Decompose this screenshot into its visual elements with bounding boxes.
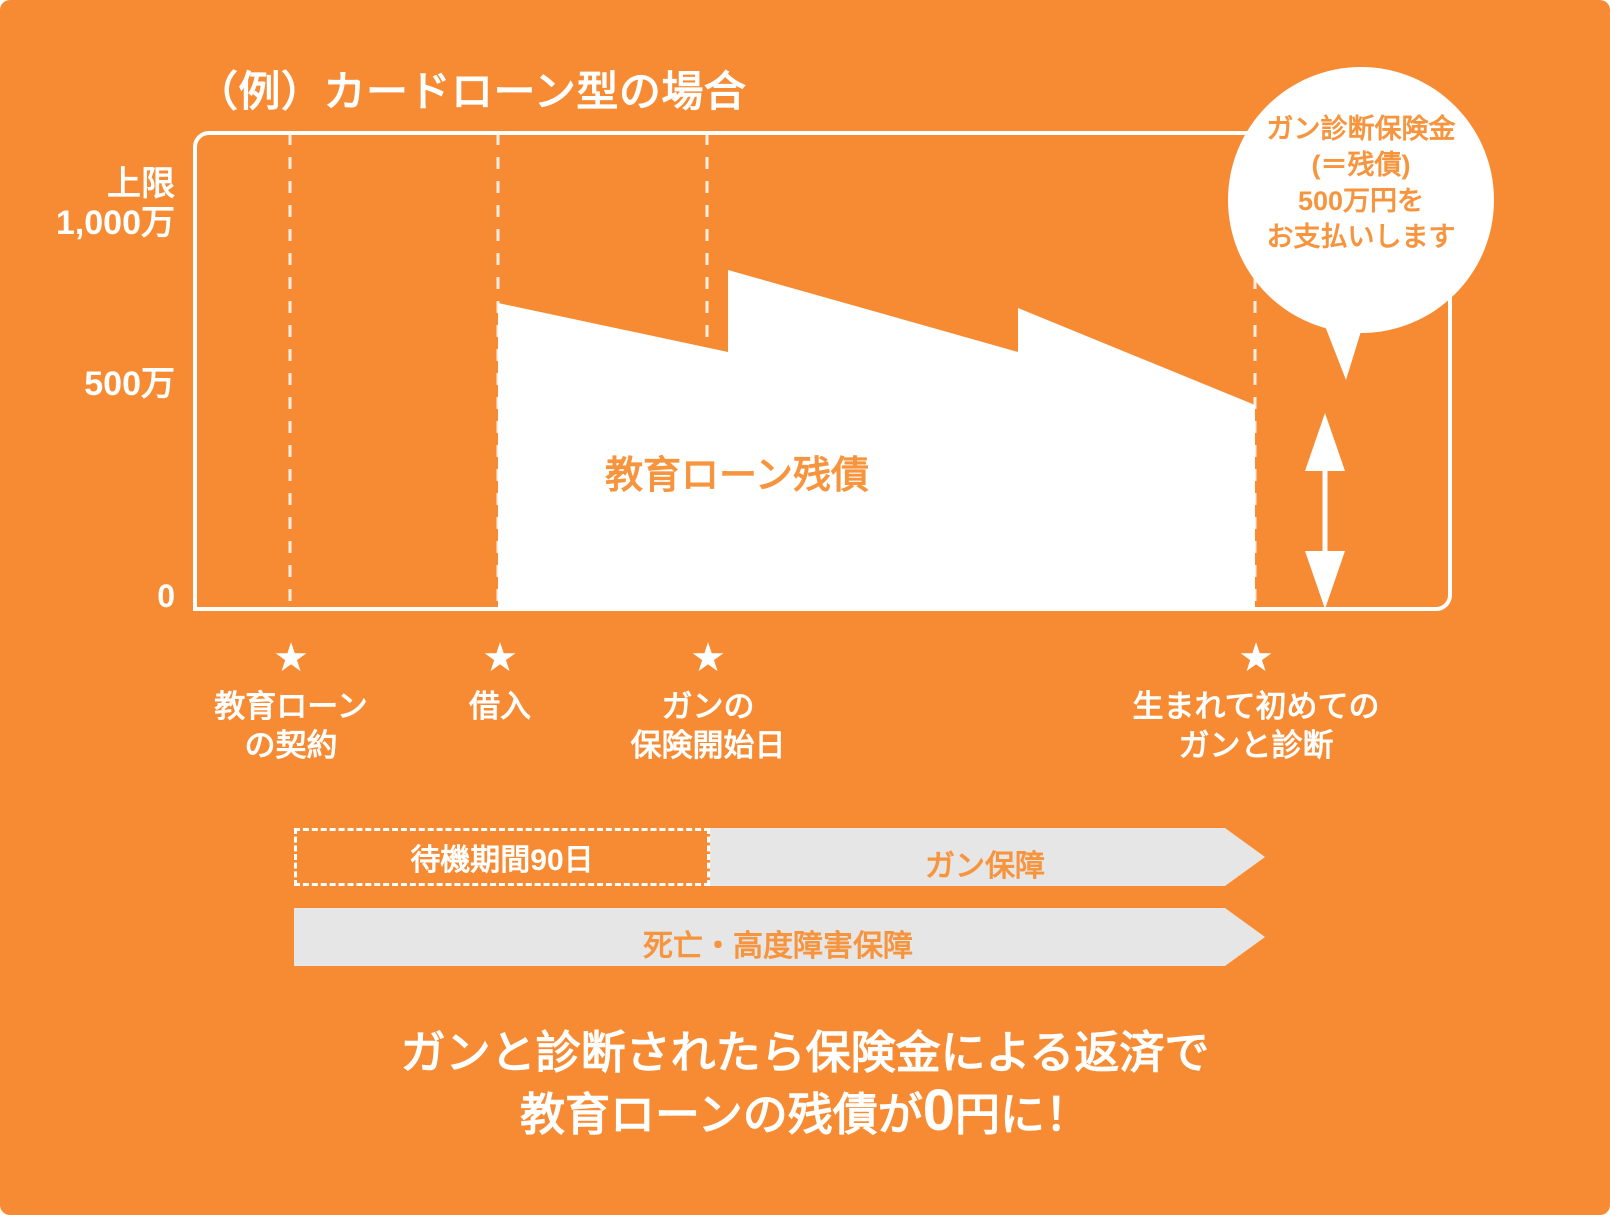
series-label-loan-balance: 教育ローン残債 (605, 444, 869, 499)
event-label-line2: の契約 (214, 727, 367, 766)
event-label-line1: ガンの (631, 688, 786, 727)
cancer-coverage-label: ガン保障 (925, 841, 1045, 885)
infographic-root: （例）カードローン型の場合 上限 1,000万 500万 0 教育ローン残債 ガ… (0, 0, 1610, 1215)
footer-zero-amount: 0 (923, 1078, 955, 1143)
star-icon: ★ (631, 638, 786, 678)
y-axis-label-max-line1: 上限 (56, 165, 175, 204)
y-axis-label-mid: 500万 (84, 365, 175, 404)
callout-line-4: お支払いします (1231, 220, 1491, 256)
waiting-period-label: 待機期間90日 (410, 835, 593, 879)
event-marker-loan-contract: ★ 教育ローン の契約 (214, 638, 367, 766)
debt-balance-area (498, 270, 1255, 611)
event-marker-borrowing: ★ 借入 (469, 638, 531, 727)
event-label-line1: 生まれて初めての (1132, 688, 1379, 727)
page-title: （例）カードローン型の場合 (196, 58, 746, 119)
y-axis-label-zero: 0 (157, 578, 175, 615)
footer-line-2: 教育ローンの残債が0円に！ (205, 1082, 1405, 1144)
death-coverage-label: 死亡・高度障害保障 (643, 921, 913, 965)
footer-line-2-prefix: 教育ローンの残債が (520, 1089, 923, 1140)
footer-line-1: ガンと診断されたら保険金による返済で (205, 1023, 1405, 1082)
star-icon: ★ (1132, 638, 1379, 678)
event-label-line2: 保険開始日 (631, 727, 786, 766)
callout-bubble-tail (1318, 302, 1370, 380)
event-marker-cancer-coverage-start: ★ ガンの 保険開始日 (631, 638, 786, 766)
event-label-line1: 借入 (469, 688, 531, 727)
callout-line-2: (＝残債) (1231, 148, 1491, 184)
event-label-line1: 教育ローン (214, 688, 367, 727)
event-marker-cancer-diagnosis: ★ 生まれて初めての ガンと診断 (1132, 638, 1379, 766)
callout-text: ガン診断保険金 (＝残債) 500万円を お支払いします (1231, 112, 1491, 256)
y-axis-label-max: 上限 1,000万 (56, 165, 175, 243)
callout-line-1: ガン診断保険金 (1231, 112, 1491, 148)
y-axis-label-max-line2: 1,000万 (56, 204, 175, 243)
payout-arrow (1305, 413, 1345, 609)
footer-caption: ガンと診断されたら保険金による返済で 教育ローンの残債が0円に！ (205, 1023, 1405, 1145)
star-icon: ★ (214, 638, 367, 678)
callout-line-3: 500万円を (1231, 184, 1491, 220)
star-icon: ★ (469, 638, 531, 678)
waiting-period-bar: 待機期間90日 (294, 828, 710, 886)
event-label-line2: ガンと診断 (1132, 727, 1379, 766)
footer-line-2-suffix: 円に！ (955, 1089, 1090, 1140)
